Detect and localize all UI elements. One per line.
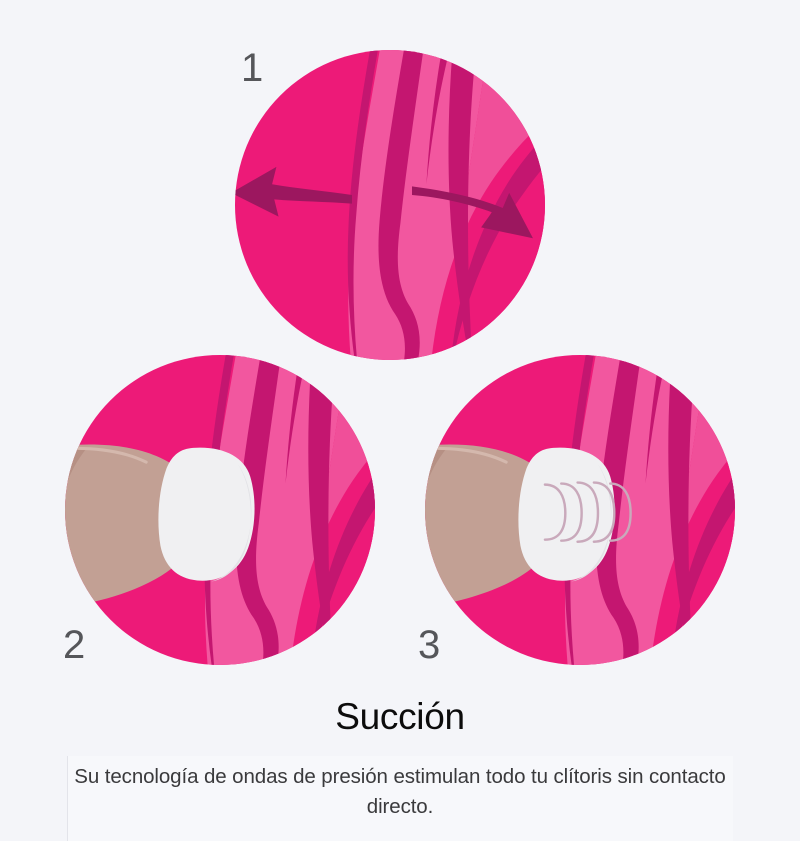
illustration-stage: Tres ilustraciones circulares que muestr… (0, 0, 800, 690)
caption-description: Su tecnología de ondas de presión estimu… (67, 762, 733, 821)
step-number-2: 2 (63, 625, 85, 665)
step-number-1: 1 (241, 48, 263, 88)
step-number-3: 3 (418, 625, 440, 665)
illustration-svg: Tres ilustraciones circulares que muestr… (0, 0, 800, 690)
suction-infographic: Tres ilustraciones circulares que muestr… (0, 0, 800, 841)
caption-title: Succión (0, 695, 800, 739)
caption-block: Succión Su tecnología de ondas de presió… (0, 690, 800, 841)
